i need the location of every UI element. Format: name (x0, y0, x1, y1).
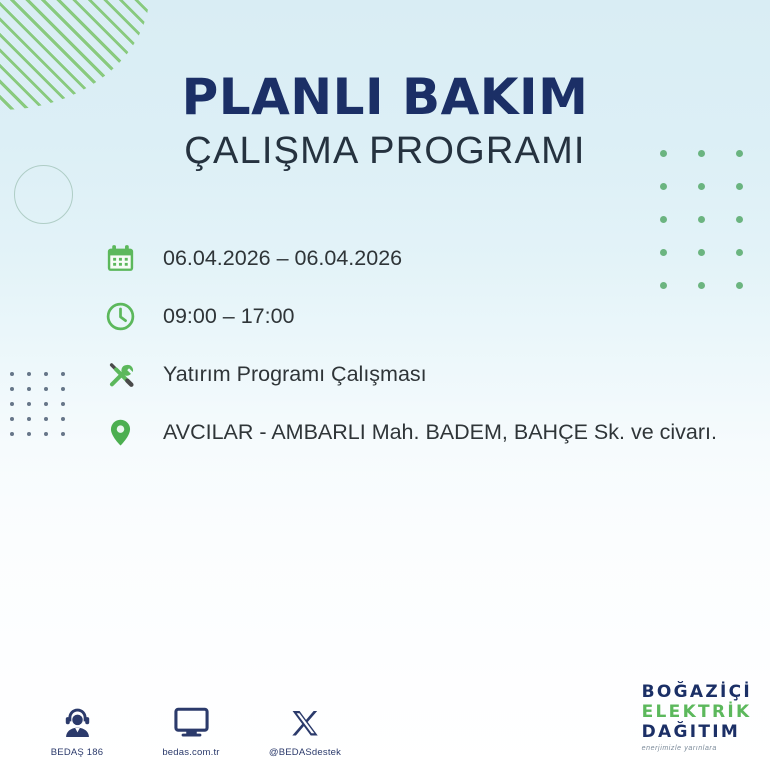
detail-text-worktype: Yatırım Programı Çalışması (163, 359, 427, 390)
contact-twitter[interactable]: @BEDASdestek (262, 699, 348, 758)
planned-maintenance-poster: PLANLI BAKIM ÇALIŞMA PROGRAMI 06 (0, 0, 770, 770)
page-subtitle: ÇALIŞMA PROGRAMI (0, 132, 770, 172)
decor-dot (44, 417, 48, 421)
decor-dot (698, 216, 705, 223)
decor-dot (61, 417, 65, 421)
decor-dot (660, 216, 667, 223)
calendar-icon (103, 241, 137, 275)
poster-header: PLANLI BAKIM ÇALIŞMA PROGRAMI (0, 72, 770, 172)
brand-line-1: BOĞAZİÇİ (642, 684, 752, 701)
location-pin-icon (103, 415, 137, 449)
detail-row-location: AVCILAR - AMBARLI Mah. BADEM, BAHÇE Sk. … (103, 417, 723, 449)
decor-dot (44, 372, 48, 376)
page-title: PLANLI BAKIM (0, 72, 770, 122)
detail-text-time: 09:00 – 17:00 (163, 301, 295, 332)
brand-logo: BOĞAZİÇİ ELEKTRİK DAĞITIM enerjimizle ya… (642, 684, 752, 752)
decor-dot (10, 372, 14, 376)
decor-dot (736, 183, 743, 190)
decor-dot (10, 432, 14, 436)
monitor-icon (148, 699, 234, 741)
detail-text-date: 06.04.2026 – 06.04.2026 (163, 243, 402, 274)
headset-operator-icon (34, 699, 120, 741)
decor-dot (61, 402, 65, 406)
contact-website-label: bedas.com.tr (148, 747, 234, 758)
decor-dot (27, 372, 31, 376)
decor-dot (44, 402, 48, 406)
brand-line-2: ELEKTRİK (642, 704, 752, 721)
tools-icon (103, 357, 137, 391)
detail-text-location: AVCILAR - AMBARLI Mah. BADEM, BAHÇE Sk. … (163, 417, 717, 448)
contact-website[interactable]: bedas.com.tr (148, 699, 234, 758)
clock-icon (103, 299, 137, 333)
decor-dot (10, 387, 14, 391)
navy-dot-grid-decoration (10, 372, 76, 438)
detail-row-worktype: Yatırım Programı Çalışması (103, 359, 723, 391)
contact-twitter-label: @BEDASdestek (262, 747, 348, 758)
contact-phone[interactable]: BEDAŞ 186 (34, 699, 120, 758)
decor-dot (660, 183, 667, 190)
decor-dot (61, 372, 65, 376)
contact-phone-label: BEDAŞ 186 (34, 747, 120, 758)
decor-dot (10, 402, 14, 406)
decor-dot (61, 432, 65, 436)
decor-dot (736, 249, 743, 256)
decor-dot (27, 432, 31, 436)
circle-outline-decoration (14, 165, 73, 224)
brand-slogan: enerjimizle yarınlara (642, 745, 752, 752)
details-list: 06.04.2026 – 06.04.2026 09:00 – 17:00 (103, 243, 723, 475)
decor-dot (27, 402, 31, 406)
decor-dot (44, 387, 48, 391)
decor-dot (10, 417, 14, 421)
decor-dot (44, 432, 48, 436)
decor-dot (736, 282, 743, 289)
brand-line-3: DAĞITIM (642, 724, 752, 741)
detail-row-date: 06.04.2026 – 06.04.2026 (103, 243, 723, 275)
footer-contacts: BEDAŞ 186 bedas.com.tr @BEDASdestek (34, 699, 348, 758)
decor-dot (61, 387, 65, 391)
detail-row-time: 09:00 – 17:00 (103, 301, 723, 333)
decor-dot (27, 417, 31, 421)
x-twitter-icon (262, 699, 348, 741)
decor-dot (698, 183, 705, 190)
decor-dot (27, 387, 31, 391)
decor-dot (736, 216, 743, 223)
